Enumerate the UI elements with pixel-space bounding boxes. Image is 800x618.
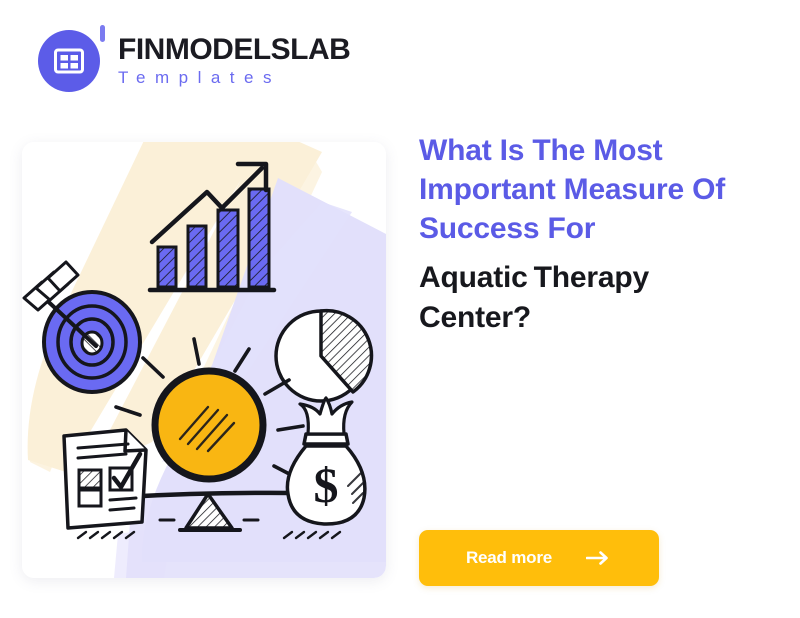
svg-text:$: $ [314,457,339,513]
brand-logo[interactable]: FINMODELSLAB Templates [38,30,350,92]
subject-word-2: Therapy [534,261,649,294]
checklist-document-icon [64,430,146,538]
promo-banner: FINMODELSLAB Templates [0,0,800,618]
read-more-label: Read more [466,548,552,568]
brand-wordmark: FINMODELSLAB Templates [118,34,350,88]
grid-squares-icon [38,30,100,92]
subject-word-3: Center? [419,301,531,334]
page-subtitle: AquaticTherapy Center? [419,258,771,337]
brand-title: FINMODELSLAB [118,34,350,66]
page-title: What Is The Most Important Measure Of Su… [419,131,771,248]
brand-subtitle: Templates [118,68,350,88]
illustration-card: $ [22,142,386,578]
arrow-right-icon [586,551,612,565]
pie-chart-icon [276,311,371,401]
read-more-button[interactable]: Read more [419,530,659,586]
business-success-illustration: $ [22,142,386,578]
power-bar-accent-icon [100,25,105,42]
subject-word-1: Aquatic [419,261,528,294]
